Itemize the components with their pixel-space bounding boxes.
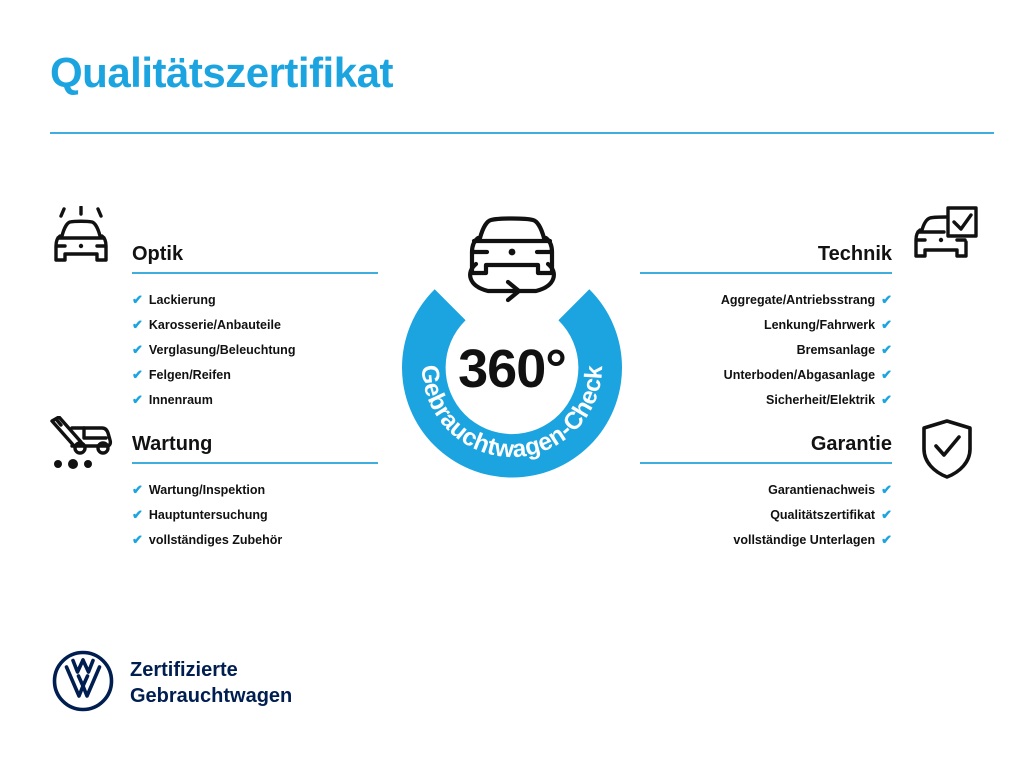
section-wartung-list: ✔Wartung/Inspektion ✔Hauptuntersuchung ✔… bbox=[132, 478, 378, 553]
section-wartung: Wartung ✔Wartung/Inspektion ✔Hauptunters… bbox=[132, 433, 378, 553]
list-item: vollständige Unterlagen✔ bbox=[640, 528, 892, 553]
list-item-label: Hauptuntersuchung bbox=[149, 508, 268, 522]
car-rotate-360-icon bbox=[470, 219, 554, 301]
list-item: ✔Innenraum bbox=[132, 388, 378, 413]
header-divider bbox=[50, 132, 994, 134]
list-item: Lenkung/Fahrwerk✔ bbox=[640, 313, 892, 338]
badge-360-check: 360° Gebrauchtwagen-Check bbox=[378, 196, 646, 496]
section-optik-list: ✔Lackierung ✔Karosserie/Anbauteile ✔Verg… bbox=[132, 288, 378, 413]
section-garantie-list: Garantienachweis✔ Qualitätszertifikat✔ v… bbox=[640, 478, 892, 553]
shield-check-icon bbox=[920, 418, 974, 485]
list-item: ✔Wartung/Inspektion bbox=[132, 478, 378, 503]
footer-brand-line2: Gebrauchtwagen bbox=[130, 684, 292, 710]
list-item: ✔Hauptuntersuchung bbox=[132, 503, 378, 528]
list-item-label: Garantienachweis bbox=[768, 483, 875, 497]
list-item-label: Innenraum bbox=[149, 393, 213, 407]
list-item-label: Qualitätszertifikat bbox=[770, 508, 875, 522]
list-item: Bremsanlage✔ bbox=[640, 338, 892, 363]
check-icon: ✔ bbox=[132, 367, 143, 382]
check-icon: ✔ bbox=[881, 507, 892, 522]
section-wartung-heading: Wartung bbox=[132, 433, 378, 455]
section-garantie-heading: Garantie bbox=[640, 433, 892, 455]
list-item-label: vollständiges Zubehör bbox=[149, 533, 282, 547]
list-item: Garantienachweis✔ bbox=[640, 478, 892, 503]
check-icon: ✔ bbox=[881, 317, 892, 332]
check-icon: ✔ bbox=[881, 367, 892, 382]
list-item: ✔Felgen/Reifen bbox=[132, 363, 378, 388]
list-item: Unterboden/Abgasanlage✔ bbox=[640, 363, 892, 388]
section-technik: Technik Aggregate/Antriebsstrang✔ Lenkun… bbox=[640, 243, 892, 413]
list-item: ✔Verglasung/Beleuchtung bbox=[132, 338, 378, 363]
footer-brand: Zertifizierte Gebrauchtwagen bbox=[52, 650, 292, 717]
check-icon: ✔ bbox=[132, 532, 143, 547]
list-item: Aggregate/Antriebsstrang✔ bbox=[640, 288, 892, 313]
check-icon: ✔ bbox=[132, 317, 143, 332]
check-icon: ✔ bbox=[132, 507, 143, 522]
check-icon: ✔ bbox=[881, 292, 892, 307]
list-item: Qualitätszertifikat✔ bbox=[640, 503, 892, 528]
section-wartung-divider bbox=[132, 462, 378, 464]
footer-brand-text: Zertifizierte Gebrauchtwagen bbox=[130, 658, 292, 709]
check-icon: ✔ bbox=[881, 342, 892, 357]
section-technik-heading: Technik bbox=[640, 243, 892, 265]
section-garantie-divider bbox=[640, 462, 892, 464]
list-item-label: Karosserie/Anbauteile bbox=[149, 318, 281, 332]
section-technik-list: Aggregate/Antriebsstrang✔ Lenkung/Fahrwe… bbox=[640, 288, 892, 413]
check-icon: ✔ bbox=[132, 292, 143, 307]
check-icon: ✔ bbox=[132, 342, 143, 357]
list-item: ✔Karosserie/Anbauteile bbox=[132, 313, 378, 338]
volkswagen-logo-icon bbox=[52, 650, 114, 717]
section-garantie: Garantie Garantienachweis✔ Qualitätszert… bbox=[640, 433, 892, 553]
check-icon: ✔ bbox=[881, 482, 892, 497]
list-item-label: Lenkung/Fahrwerk bbox=[764, 318, 875, 332]
check-icon: ✔ bbox=[881, 532, 892, 547]
list-item: ✔Lackierung bbox=[132, 288, 378, 313]
list-item-label: Bremsanlage bbox=[797, 343, 876, 357]
list-item-label: Lackierung bbox=[149, 293, 216, 307]
section-optik: Optik ✔Lackierung ✔Karosserie/Anbauteile… bbox=[132, 243, 378, 413]
section-technik-divider bbox=[640, 272, 892, 274]
list-item-label: Aggregate/Antriebsstrang bbox=[721, 293, 875, 307]
badge-center-text: 360° bbox=[458, 339, 566, 399]
car-wrench-icon bbox=[48, 416, 114, 477]
check-icon: ✔ bbox=[132, 392, 143, 407]
list-item: ✔vollständiges Zubehör bbox=[132, 528, 378, 553]
list-item-label: vollständige Unterlagen bbox=[733, 533, 875, 547]
page-title: Qualitätszertifikat bbox=[50, 52, 393, 94]
list-item: Sicherheit/Elektrik✔ bbox=[640, 388, 892, 413]
car-shine-icon bbox=[48, 206, 114, 273]
list-item-label: Felgen/Reifen bbox=[149, 368, 231, 382]
car-checkbox-icon bbox=[910, 206, 978, 271]
list-item-label: Verglasung/Beleuchtung bbox=[149, 343, 296, 357]
check-icon: ✔ bbox=[132, 482, 143, 497]
list-item-label: Wartung/Inspektion bbox=[149, 483, 265, 497]
section-optik-divider bbox=[132, 272, 378, 274]
section-optik-heading: Optik bbox=[132, 243, 378, 265]
footer-brand-line1: Zertifizierte bbox=[130, 658, 292, 684]
list-item-label: Unterboden/Abgasanlage bbox=[724, 368, 875, 382]
check-icon: ✔ bbox=[881, 392, 892, 407]
list-item-label: Sicherheit/Elektrik bbox=[766, 393, 875, 407]
